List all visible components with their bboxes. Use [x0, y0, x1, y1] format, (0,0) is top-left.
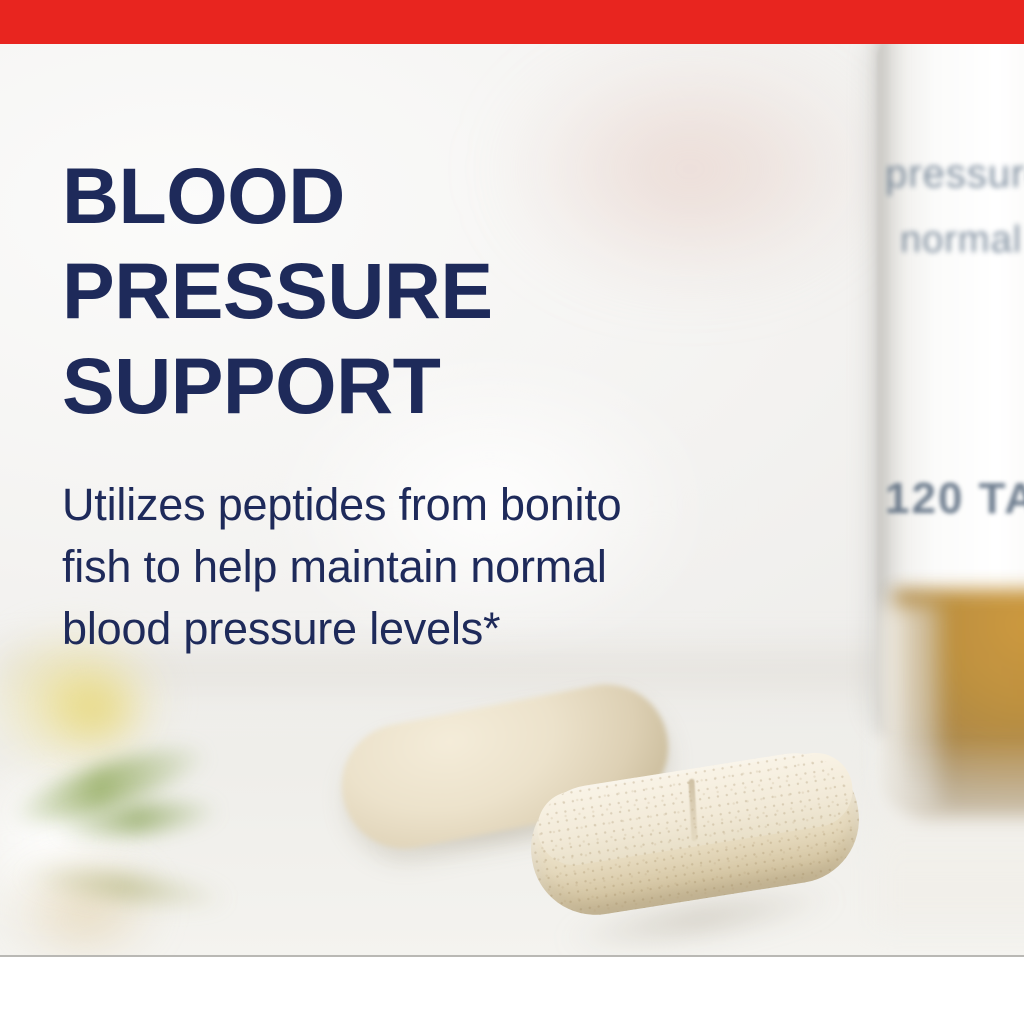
page-subtitle: Utilizes peptides from bonito fish to he… — [62, 474, 762, 660]
product-marketing-image: pressure normal range 120 TABLETS BLOOD … — [0, 0, 1024, 1024]
blurred-yellow-flower-small — [30, 654, 160, 764]
hero-photo-panel: pressure normal range 120 TABLETS BLOOD … — [0, 44, 1024, 957]
top-accent-bar — [0, 0, 1024, 44]
headline-line-2: PRESSURE — [62, 243, 702, 338]
subheading-line-3: blood pressure levels* — [62, 598, 762, 660]
headline-line-3: SUPPORT — [62, 338, 702, 433]
bottle-tablet-count: 120 TABLETS — [885, 474, 1024, 524]
supplement-bottle-bottom-fade — [877, 744, 1024, 924]
page-title: BLOOD PRESSURE SUPPORT — [62, 148, 702, 433]
headline-line-1: BLOOD — [62, 148, 702, 243]
subheading-line-2: fish to help maintain normal — [62, 536, 762, 598]
bottle-label-line-1: pressure — [885, 152, 1024, 197]
bottle-label-line-2: normal range — [900, 219, 1024, 262]
subheading-line-1: Utilizes peptides from bonito — [62, 474, 762, 536]
footer: *These statements have not been evaluate… — [0, 957, 1024, 1024]
